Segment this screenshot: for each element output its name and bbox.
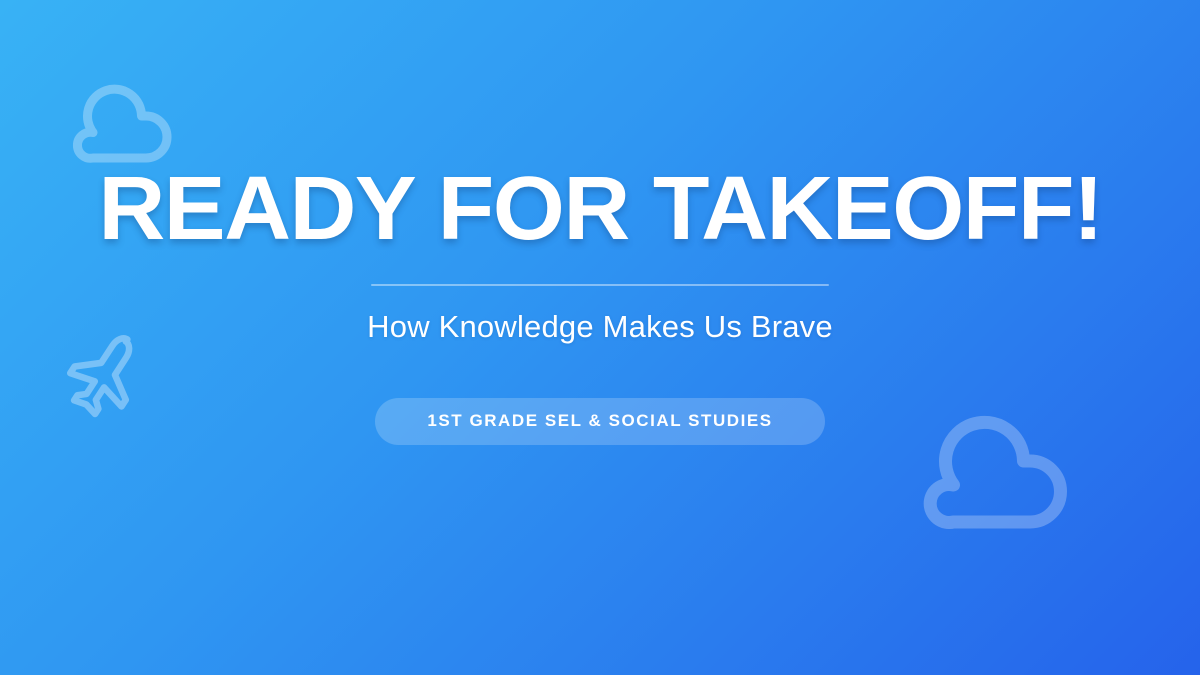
slide-subtitle: How Knowledge Makes Us Brave: [367, 308, 833, 345]
title-slide: READY FOR TAKEOFF! How Knowledge Makes U…: [0, 0, 1200, 675]
status-badge-label: 1ST GRADE SEL & SOCIAL STUDIES: [427, 411, 772, 431]
divider: [371, 284, 829, 286]
slide-content: READY FOR TAKEOFF! How Knowledge Makes U…: [0, 0, 1200, 675]
status-badge: 1ST GRADE SEL & SOCIAL STUDIES: [375, 398, 825, 445]
page-title: READY FOR TAKEOFF!: [98, 164, 1102, 254]
